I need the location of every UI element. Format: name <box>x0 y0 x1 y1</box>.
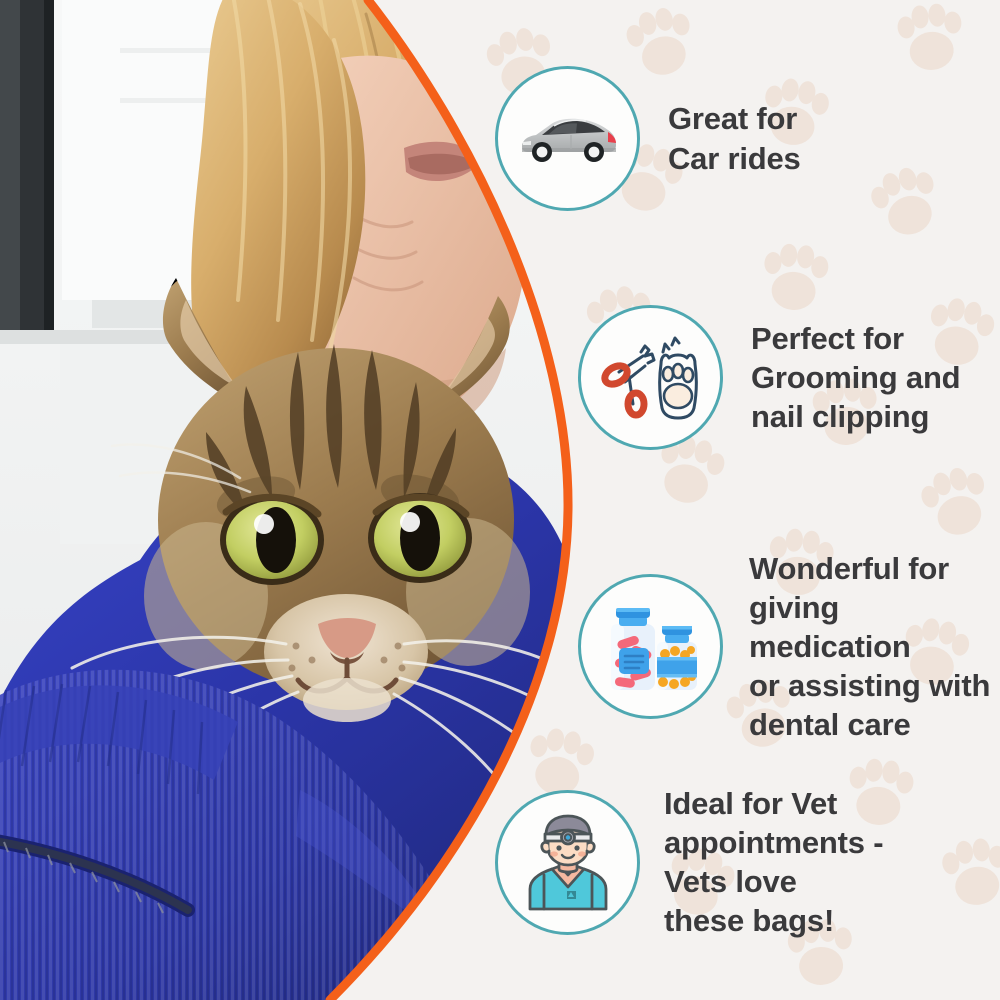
feature-label: Perfect for Grooming and nail clipping <box>751 319 960 436</box>
feature-list: Great for Car rides <box>470 0 1000 1000</box>
infographic-canvas: Great for Car rides <box>0 0 1000 1000</box>
feature-label: Great for Car rides <box>668 99 801 177</box>
nail-clippers-paw-icon <box>599 330 703 426</box>
veterinarian-icon <box>518 813 618 911</box>
feature-item-grooming: Perfect for Grooming and nail clipping <box>578 305 960 450</box>
feature-icon-circle <box>495 66 640 211</box>
medicine-bottles-icon <box>597 598 705 696</box>
car-icon <box>516 109 620 169</box>
feature-item-medication: Wonderful for giving medication or assis… <box>578 549 1000 744</box>
feature-icon-circle <box>578 305 723 450</box>
feature-icon-circle <box>578 574 723 719</box>
feature-label: Wonderful for giving medication or assis… <box>749 549 1000 744</box>
feature-item-vet: Ideal for Vet appointments - Vets love t… <box>495 784 883 940</box>
feature-icon-circle <box>495 790 640 935</box>
feature-label: Ideal for Vet appointments - Vets love t… <box>664 784 883 940</box>
feature-item-car-rides: Great for Car rides <box>495 66 801 211</box>
